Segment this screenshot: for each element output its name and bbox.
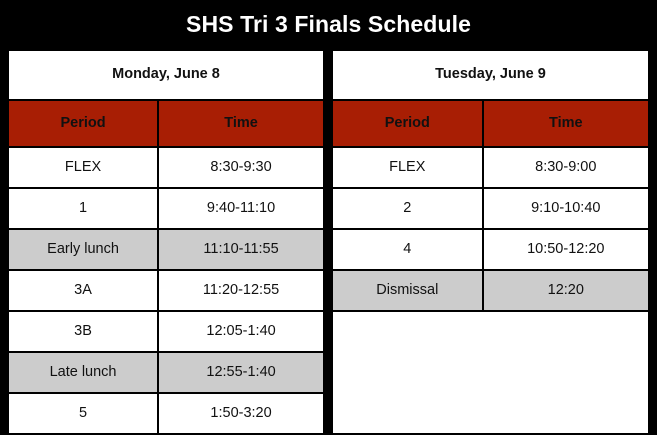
table-row: 5 1:50-3:20 xyxy=(8,393,324,434)
monday-time-5: 12:55-1:40 xyxy=(158,352,324,393)
tuesday-period-2: 4 xyxy=(332,229,483,270)
tuesday-header-time: Time xyxy=(483,100,649,147)
table-row: 2 9:10-10:40 xyxy=(332,188,649,229)
tuesday-table: Tuesday, June 9 Period Time FLEX 8:30-9:… xyxy=(331,49,650,435)
tuesday-blank-row xyxy=(332,311,649,434)
tuesday-day-header-row: Tuesday, June 9 xyxy=(332,50,649,100)
monday-time-1: 9:40-11:10 xyxy=(158,188,324,229)
monday-column-header-row: Period Time xyxy=(8,100,324,147)
monday-period-4: 3B xyxy=(8,311,158,352)
table-row: 1 9:40-11:10 xyxy=(8,188,324,229)
tuesday-period-0: FLEX xyxy=(332,147,483,188)
tuesday-time-0: 8:30-9:00 xyxy=(483,147,649,188)
table-row: Early lunch 11:10-11:55 xyxy=(8,229,324,270)
monday-period-1: 1 xyxy=(8,188,158,229)
table-row: 3B 12:05-1:40 xyxy=(8,311,324,352)
tuesday-time-3: 12:20 xyxy=(483,270,649,311)
schedule-table-monday: Monday, June 8 Period Time FLEX 8:30-9:3… xyxy=(7,49,325,420)
page-title: SHS Tri 3 Finals Schedule xyxy=(186,13,471,36)
tuesday-column-header-row: Period Time xyxy=(332,100,649,147)
tuesday-time-2: 10:50-12:20 xyxy=(483,229,649,270)
monday-time-6: 1:50-3:20 xyxy=(158,393,324,434)
tuesday-day-heading: Tuesday, June 9 xyxy=(332,50,649,100)
monday-time-4: 12:05-1:40 xyxy=(158,311,324,352)
monday-day-heading: Monday, June 8 xyxy=(8,50,324,100)
monday-day-header-row: Monday, June 8 xyxy=(8,50,324,100)
monday-period-2: Early lunch xyxy=(8,229,158,270)
monday-time-3: 11:20-12:55 xyxy=(158,270,324,311)
table-row: Late lunch 12:55-1:40 xyxy=(8,352,324,393)
schedule-page: SHS Tri 3 Finals Schedule Monday, June 8… xyxy=(0,0,657,420)
table-row: 4 10:50-12:20 xyxy=(332,229,649,270)
monday-period-3: 3A xyxy=(8,270,158,311)
monday-table-body: Monday, June 8 Period Time FLEX 8:30-9:3… xyxy=(8,50,324,434)
schedule-table-tuesday: Tuesday, June 9 Period Time FLEX 8:30-9:… xyxy=(331,49,650,420)
tuesday-table-body: Tuesday, June 9 Period Time FLEX 8:30-9:… xyxy=(332,50,649,434)
page-title-bar: SHS Tri 3 Finals Schedule xyxy=(0,0,657,49)
monday-time-2: 11:10-11:55 xyxy=(158,229,324,270)
monday-time-0: 8:30-9:30 xyxy=(158,147,324,188)
monday-table: Monday, June 8 Period Time FLEX 8:30-9:3… xyxy=(7,49,325,435)
tuesday-period-1: 2 xyxy=(332,188,483,229)
table-row: FLEX 8:30-9:00 xyxy=(332,147,649,188)
tuesday-header-period: Period xyxy=(332,100,483,147)
monday-period-6: 5 xyxy=(8,393,158,434)
table-row: 3A 11:20-12:55 xyxy=(8,270,324,311)
table-row: Dismissal 12:20 xyxy=(332,270,649,311)
monday-period-5: Late lunch xyxy=(8,352,158,393)
monday-header-period: Period xyxy=(8,100,158,147)
monday-header-time: Time xyxy=(158,100,324,147)
tuesday-time-1: 9:10-10:40 xyxy=(483,188,649,229)
tuesday-period-3: Dismissal xyxy=(332,270,483,311)
monday-period-0: FLEX xyxy=(8,147,158,188)
tuesday-blank-filler-cell xyxy=(332,311,649,434)
table-row: FLEX 8:30-9:30 xyxy=(8,147,324,188)
